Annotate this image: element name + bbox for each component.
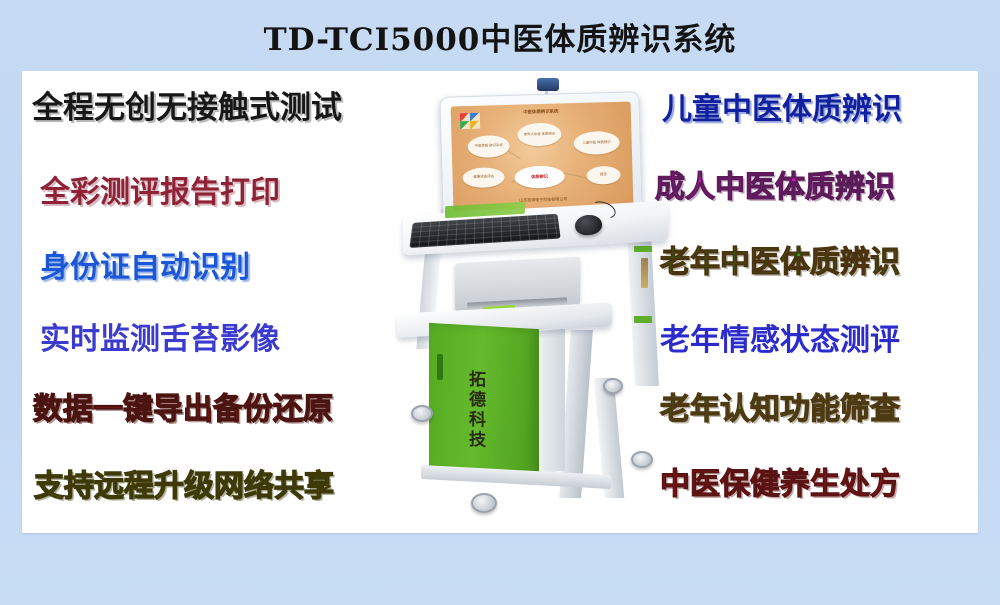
feature-left-3: 身份证自动识别	[40, 253, 250, 283]
feature-left-6: 支持远程升级网络共享	[34, 472, 334, 502]
poster-root: TD-TCI5000中医体质辨识系统 全程无创无接触式测试 全彩测评报告打印 身…	[0, 0, 1000, 605]
page-title: TD-TCI5000中医体质辨识系统	[0, 14, 1000, 59]
feature-left-4: 实时监测舌苔影像	[40, 325, 280, 355]
feature-right-2: 成人中医体质辨识	[655, 173, 895, 203]
feature-right-4: 老年情感状态测评	[660, 326, 900, 356]
screen-bubble-3: 儿童中医 体质辨识	[573, 131, 620, 155]
screen-bubble-1: 中医体质 辨识系统	[467, 135, 510, 158]
device-illustration: 中医体质辨识系统 中医体质 辨识系统 老年人中医 体质辨识 儿童中医 体质辨识 …	[385, 78, 685, 533]
cabinet-brand-text: 拓德科技	[461, 369, 483, 450]
monitor-screen: 中医体质辨识系统 中医体质 辨识系统 老年人中医 体质辨识 儿童中医 体质辨识 …	[451, 101, 634, 210]
monitor-frame: 中医体质辨识系统 中医体质 辨识系统 老年人中医 体质辨识 儿童中医 体质辨识 …	[439, 91, 642, 220]
cart-side-slot	[641, 258, 648, 288]
camera-icon	[537, 78, 559, 91]
cart-post-accent-top	[634, 246, 652, 252]
feature-left-5: 数据一键导出备份还原	[33, 395, 333, 425]
feature-right-3: 老年中医体质辨识	[660, 248, 900, 278]
caster-wheel-rear-right	[603, 378, 623, 394]
screen-bubble-5: 报告	[586, 166, 620, 185]
screen-bubble-4: 健康状态评估	[462, 167, 505, 188]
feature-right-1: 儿童中医体质辨识	[662, 95, 902, 125]
caster-wheel-front-left	[411, 405, 433, 422]
feature-left-2: 全彩测评报告打印	[40, 178, 280, 208]
screen-footer: 山东拓德电子科技有限公司	[519, 196, 567, 203]
screen-link-line-2	[563, 172, 589, 179]
cabinet-handle	[437, 354, 443, 380]
screen-logo-icon	[460, 113, 480, 130]
cart-post-accent-bottom	[634, 316, 652, 323]
caster-wheel-front-right	[471, 493, 497, 513]
screen-title: 中医体质辨识系统	[523, 108, 558, 115]
cabinet-side-panel	[537, 329, 565, 474]
caster-wheel-rear	[631, 451, 653, 468]
feature-right-6: 中医保健养生处方	[660, 470, 900, 500]
feature-right-5: 老年认知功能筛查	[660, 395, 900, 425]
screen-bubble-center: 体质辨识	[514, 165, 565, 188]
feature-left-1: 全程无创无接触式测试	[32, 93, 342, 124]
screen-bubble-2: 老年人中医 体质辨识	[517, 122, 562, 146]
